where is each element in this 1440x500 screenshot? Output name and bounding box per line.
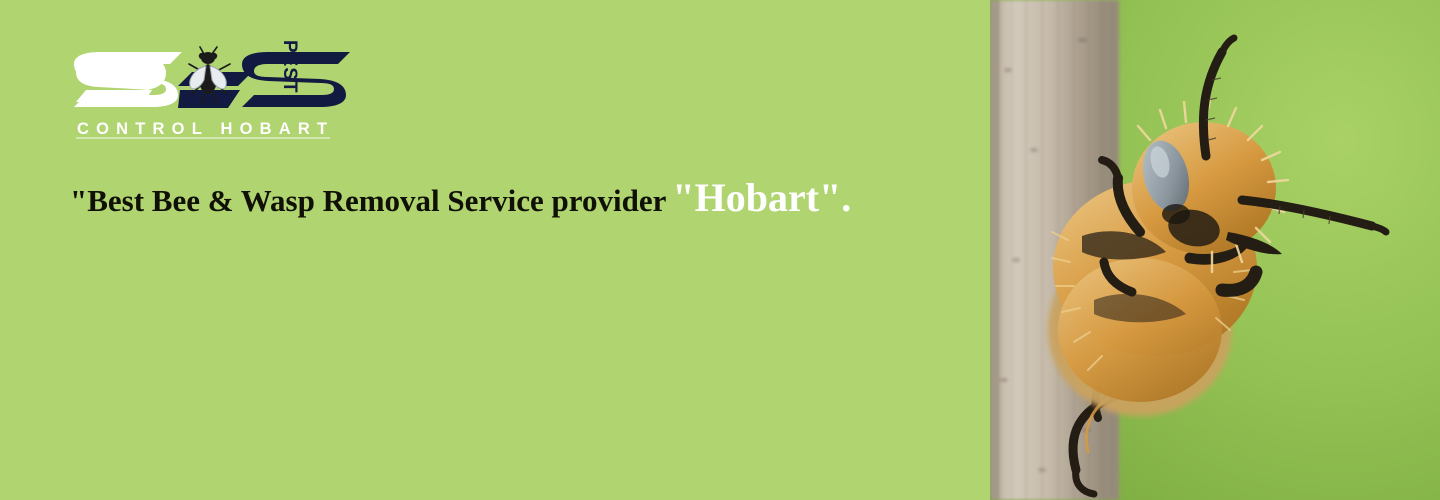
page-title: "Best Bee & Wasp Removal Service provide…: [70, 178, 851, 218]
left-content-panel: PEST CONTROL HOBART "Best Bee & Wasp Rem…: [0, 0, 990, 500]
hero-banner: PEST CONTROL HOBART "Best Bee & Wasp Rem…: [0, 0, 1440, 500]
logo-underline: [76, 137, 330, 139]
brand-logo[interactable]: PEST CONTROL HOBART: [74, 44, 332, 144]
logo-mark: PEST: [74, 44, 332, 122]
headline-lead: "Best Bee & Wasp Removal Service provide…: [70, 183, 666, 218]
bee-photo: [990, 0, 1440, 500]
fly-icon: [182, 46, 238, 106]
headline-city: "Hobart".: [672, 175, 851, 220]
logo-vertical-pest: PEST: [278, 40, 300, 94]
logo-letter-s-white: [74, 50, 186, 108]
bee-on-stem-illustration: [990, 0, 1440, 500]
